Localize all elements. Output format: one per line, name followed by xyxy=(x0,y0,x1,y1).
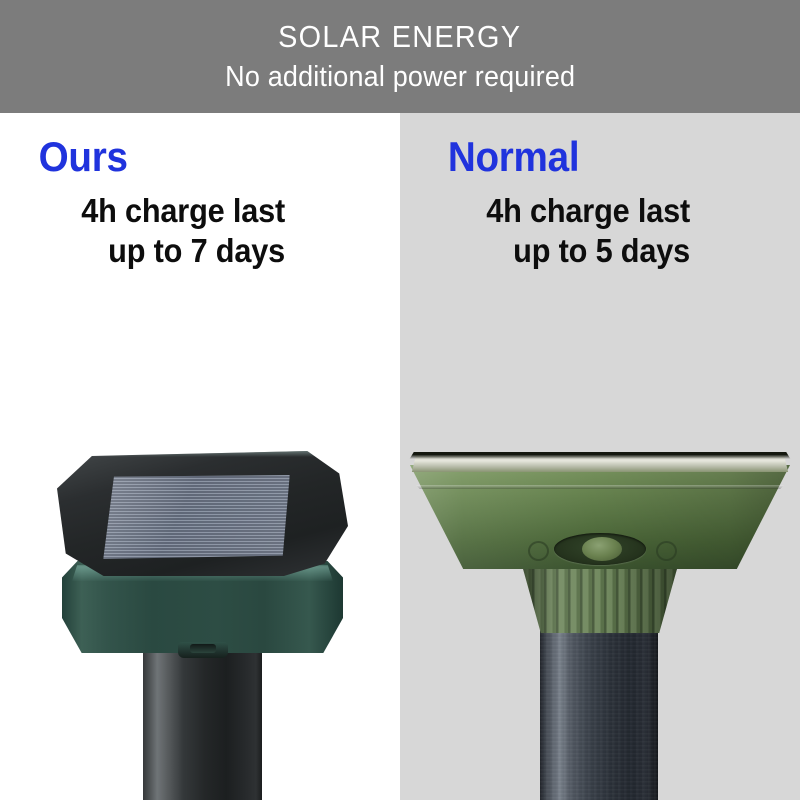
product-comparison-image: SOLAR ENERGY No additional power require… xyxy=(0,0,800,800)
page-title: SOLAR ENERGY xyxy=(278,21,521,54)
normal-head-ridge xyxy=(416,485,784,489)
header-subtitle: No additional power required xyxy=(225,61,575,94)
ours-housing-nub-inner xyxy=(190,644,216,653)
ours-solar-panel-gloss xyxy=(103,475,289,559)
normal-collar-shading xyxy=(520,558,680,633)
normal-solar-strip-outline xyxy=(408,452,792,477)
product-image-ours xyxy=(0,113,400,800)
product-image-normal xyxy=(400,113,800,800)
comparison-panel-normal: Normal 4h charge last up to 5 days xyxy=(400,113,800,800)
comparison-panel-ours: Ours 4h charge last up to 7 days xyxy=(0,113,400,800)
normal-screw-left xyxy=(528,541,549,561)
header-banner: SOLAR ENERGY No additional power require… xyxy=(0,0,800,113)
normal-power-button xyxy=(582,537,622,561)
normal-screw-right xyxy=(656,541,677,561)
